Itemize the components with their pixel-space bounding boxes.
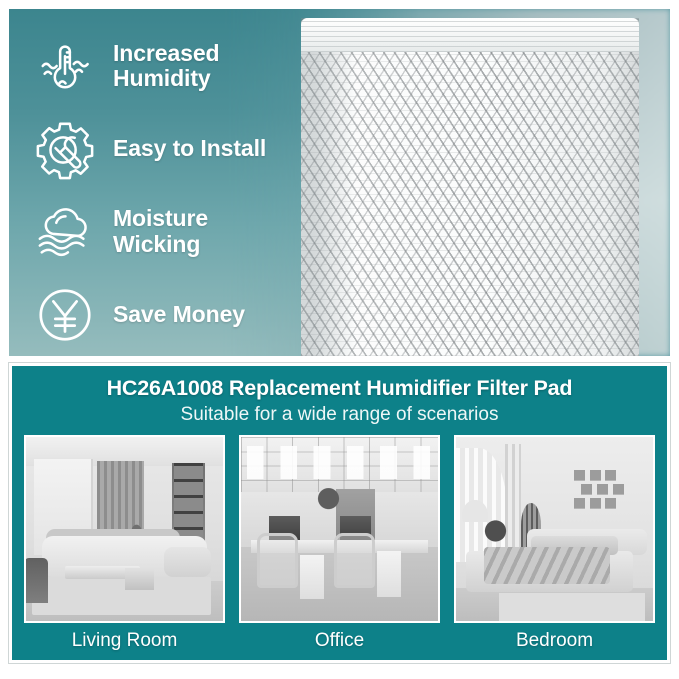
room-gallery: Living Room Office — [24, 435, 655, 652]
thermometer-humidity-icon — [33, 34, 97, 98]
room-caption: Living Room — [24, 623, 225, 652]
filter-pad-top-edge — [301, 18, 639, 52]
feature-list: Increased Humidity Easy to Install — [9, 9, 309, 356]
hero-panel: Increased Humidity Easy to Install — [9, 9, 670, 356]
filter-pad-product-image — [301, 18, 639, 356]
room-card: Bedroom — [454, 435, 655, 652]
feature-label: Increased Humidity — [113, 41, 283, 93]
room-caption: Bedroom — [454, 623, 655, 652]
feature-label: Moisture Wicking — [113, 206, 283, 258]
yen-coin-icon — [33, 283, 97, 347]
product-headline: HC26A1008 Replacement Humidifier Filter … — [107, 376, 573, 401]
room-caption: Office — [239, 623, 440, 652]
feature-item: Save Money — [33, 273, 309, 356]
filter-pad-top-pleats — [301, 18, 639, 52]
room-card: Office — [239, 435, 440, 652]
feature-label: Easy to Install — [113, 136, 266, 162]
filter-pad-shading — [301, 18, 639, 356]
gear-wrench-icon — [33, 117, 97, 181]
product-infographic: Increased Humidity Easy to Install — [0, 0, 679, 679]
feature-item: Easy to Install — [33, 108, 309, 191]
product-subline: Suitable for a wide range of scenarios — [181, 404, 499, 426]
feature-item: Increased Humidity — [33, 25, 309, 108]
room-card: Living Room — [24, 435, 225, 652]
scenarios-panel: HC26A1008 Replacement Humidifier Filter … — [9, 363, 670, 663]
feature-label: Save Money — [113, 302, 245, 328]
bedroom-photo — [454, 435, 655, 623]
panel-divider — [9, 356, 670, 363]
filter-pad-body — [301, 18, 639, 356]
living-room-photo — [24, 435, 225, 623]
feature-item: Moisture Wicking — [33, 191, 309, 274]
cloud-moisture-icon — [33, 200, 97, 264]
office-photo — [239, 435, 440, 623]
